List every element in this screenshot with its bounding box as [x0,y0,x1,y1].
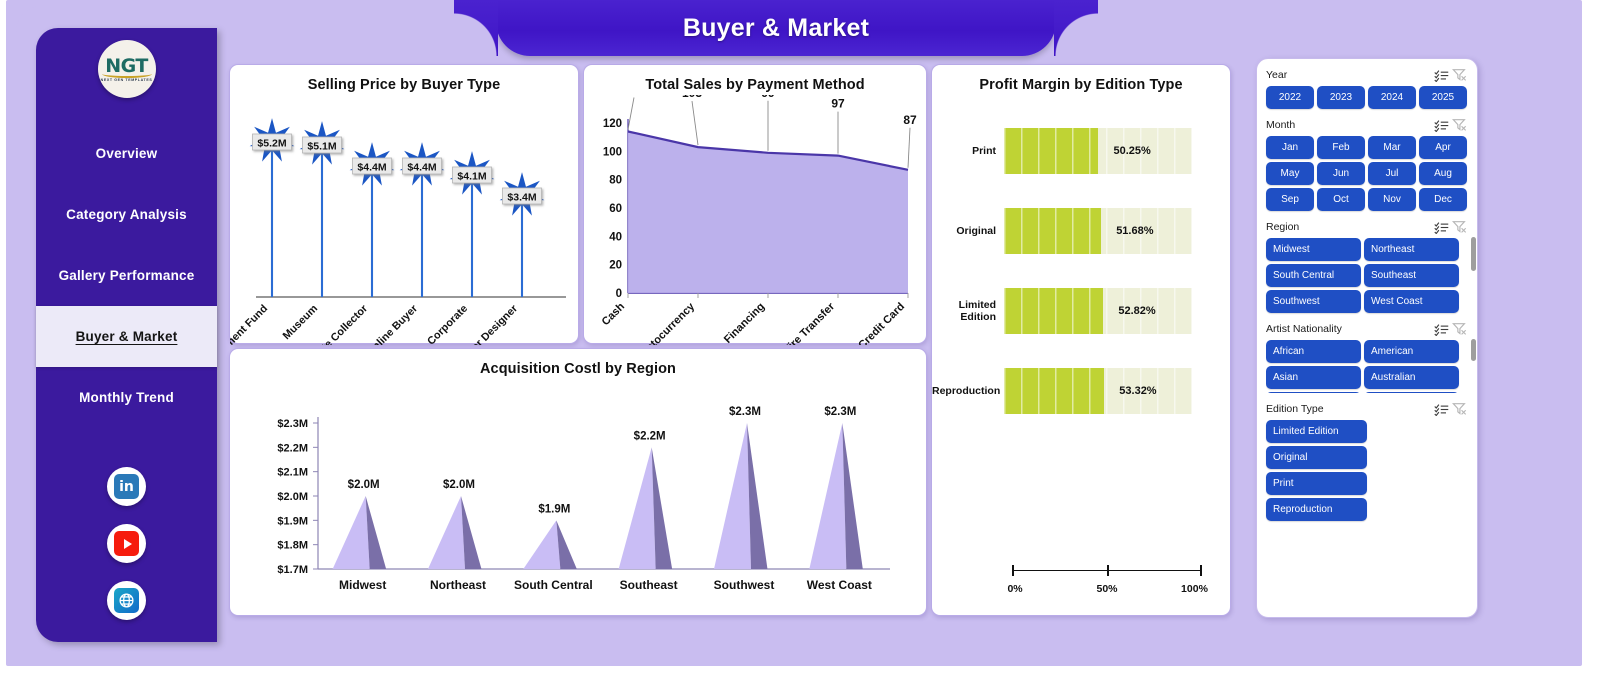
acquisition-cone-front [428,496,465,569]
filter-chip-apr[interactable]: Apr [1419,136,1467,159]
selling-price-value-label: $3.4M [507,192,536,204]
chart-title-selling-price: Selling Price by Buyer Type [230,77,578,93]
profit-margin-axis-tick-label: 50% [1096,583,1117,595]
acquisition-y-tick-label: $2.1M [277,467,308,479]
filter-chip-southwest[interactable]: Southwest [1266,290,1361,313]
acquisition-cone-front [523,520,560,569]
acquisition-y-tick-label: $2.2M [277,442,308,454]
profit-margin-value-label: 52.82% [1118,305,1155,317]
filter-group-label: Artist Nationality [1266,323,1432,335]
header-band: Buyer & Market [16,6,1592,58]
filter-chip-list: 2022202320242025 [1266,86,1468,109]
profit-margin-category-label: Original [932,225,1004,237]
filter-group-month: Month JanFebMarAprMayJunJulAugSepOctNovD… [1257,109,1477,211]
profit-margin-category-label: Print [932,145,1004,157]
profit-margin-bar-stripes [1004,368,1192,414]
payment-value-label: 97 [831,97,845,111]
clear-filter-icon[interactable] [1450,321,1468,337]
chart-acquisition-cost-plot: $1.7M$1.8M$1.9M$2.0M$2.1M$2.2M$2.3M $2.0… [230,385,926,617]
acquisition-x-tick-label: Northeast [430,578,486,592]
payment-y-tick-label: 80 [609,175,622,187]
payment-y-tick-label: 100 [603,146,622,158]
sidebar-item-buyer-market[interactable]: Buyer & Market [36,306,217,367]
filter-scrollbar-thumb[interactable] [1471,237,1476,271]
acquisition-cone-front [714,423,751,569]
selling-price-x-tick-label: Online Buyer [364,302,421,345]
acquisition-x-tick-label: Southeast [620,578,678,592]
clear-filter-icon[interactable] [1450,117,1468,133]
profit-margin-value-label: 51.68% [1116,225,1153,237]
payment-label-leader [692,101,698,145]
filter-group-edition-type: Edition Type Limited EditionOriginalPrin… [1257,393,1477,521]
sidebar-nav: Overview Category Analysis Gallery Perfo… [36,123,217,428]
profit-margin-bar-track: 51.68% [1004,208,1192,254]
filter-chip-australian[interactable]: Australian [1364,366,1459,389]
linkedin-button[interactable]: in [107,467,146,506]
header-wing-right [1054,0,1098,56]
profit-margin-axis-tick [1012,565,1014,576]
filter-chip-african[interactable]: African [1266,340,1361,363]
youtube-button[interactable] [107,524,146,563]
clear-filter-icon[interactable] [1450,219,1468,235]
multi-select-icon[interactable] [1432,401,1450,417]
filter-chip-list: AfricanAmericanAsianAustralianBritishCan… [1266,340,1468,393]
profit-margin-category-label: LimitedEdition [932,299,1004,323]
profit-margin-bar-stripes [1004,208,1192,254]
globe-icon [114,588,139,613]
acquisition-cone-front [333,496,370,569]
payment-y-tick-label: 0 [616,288,622,300]
profit-margin-axis-tick-label: 0% [1007,583,1022,595]
multi-select-icon[interactable] [1432,117,1450,133]
dashboard-root: Buyer & Market NGT NEXT GEN TEMPLATES Ov… [0,0,1600,686]
profit-margin-value-label: 50.25% [1114,145,1151,157]
selling-price-x-tick-label: Museum [281,303,320,342]
chart-title-acquisition-cost: Acquisition Costl by Region [230,361,926,377]
filter-chip-american[interactable]: American [1364,340,1459,363]
profit-margin-axis-tick [1200,565,1202,576]
filter-chip-northeast[interactable]: Northeast [1364,238,1459,261]
payment-value-label: 103 [682,95,702,100]
filter-chip-west-coast[interactable]: West Coast [1364,290,1459,313]
page-canvas-inner: Buyer & Market NGT NEXT GEN TEMPLATES Ov… [16,6,1572,658]
filter-chip-2024[interactable]: 2024 [1368,86,1416,109]
payment-method-svg: 020406080100120 114103999787 CashCryptoc… [584,95,928,345]
sidebar-item-gallery-performance[interactable]: Gallery Performance [36,245,217,306]
filter-group-label: Region [1266,221,1432,233]
acquisition-cone-front [619,447,656,569]
filter-chip-jun[interactable]: Jun [1317,162,1365,185]
acquisition-cone-front [809,423,846,569]
payment-y-tick-label: 20 [609,260,622,272]
acquisition-value-label: $2.0M [443,479,475,491]
acquisition-value-label: $2.0M [348,479,380,491]
logo-subtext: NEXT GEN TEMPLATES [101,78,153,82]
selling-price-x-tick-label: Investment Fund [230,303,270,345]
acquisition-y-tick-label: $1.8M [277,540,308,552]
filter-group-header: Region [1266,216,1468,238]
chart-card-payment-method: Total Sales by Payment Method 0204060801… [583,64,927,344]
filter-chip-feb[interactable]: Feb [1317,136,1365,159]
payment-x-tick-label: Cash [600,300,628,328]
payment-y-tick-label: 120 [603,118,622,130]
payment-value-label: 99 [761,95,775,100]
selling-price-value-label: $4.4M [357,162,386,174]
sidebar: NGT NEXT GEN TEMPLATES Overview Category… [36,28,217,642]
clear-filter-icon[interactable] [1450,67,1468,83]
filter-chip-southeast[interactable]: Southeast [1364,264,1459,287]
filter-group-label: Year [1266,69,1432,81]
header-title-pill: Buyer & Market [496,0,1056,56]
profit-margin-row: Original51.68% [932,191,1230,271]
filter-chip-dec[interactable]: Dec [1419,188,1467,211]
filter-chip-jul[interactable]: Jul [1368,162,1416,185]
filter-chip-2022[interactable]: 2022 [1266,86,1314,109]
acquisition-y-tick-label: $1.9M [277,515,308,527]
profit-margin-row: Print50.25% [932,111,1230,191]
filter-chip-jan[interactable]: Jan [1266,136,1314,159]
selling-price-value-label: $4.4M [407,162,436,174]
profit-margin-bar-track: 50.25% [1004,128,1192,174]
payment-label-leader [908,128,910,168]
acquisition-x-tick-label: Midwest [339,578,386,592]
chart-card-acquisition-cost: Acquisition Costl by Region $1.7M$1.8M$1… [229,348,927,616]
acquisition-y-tick-label: $2.3M [277,418,308,430]
selling-price-value-label: $4.1M [457,171,486,183]
profit-margin-axis-tick-label: 100% [1181,583,1208,595]
filter-group-region: Region MidwestNortheastSouth CentralSout… [1257,211,1477,313]
filter-chip-aug[interactable]: Aug [1419,162,1467,185]
filter-chip-list: Limited EditionOriginalPrintReproduction [1266,420,1468,521]
filter-group-header: Edition Type [1266,398,1468,420]
filter-chip-oct[interactable]: Oct [1317,188,1365,211]
filter-chip-south-central[interactable]: South Central [1266,264,1361,287]
chart-title-payment-method: Total Sales by Payment Method [584,77,926,93]
filter-chip-list: MidwestNortheastSouth CentralSoutheastSo… [1266,238,1468,313]
logo: NGT NEXT GEN TEMPLATES [98,40,156,98]
profit-margin-bar-stripes [1004,128,1192,174]
payment-value-label: 87 [903,113,917,127]
payment-label-leader [628,98,634,130]
sidebar-socials: in [36,467,217,620]
filter-group-year: Year 2022202320242025 [1257,59,1477,109]
page-canvas: Buyer & Market NGT NEXT GEN TEMPLATES Ov… [6,0,1582,666]
filter-chip-sep[interactable]: Sep [1266,188,1314,211]
sidebar-item-monthly-trend[interactable]: Monthly Trend [36,367,217,428]
filter-group-artist-nationality: Artist Nationality AfricanAmericanAsianA… [1257,313,1477,393]
acquisition-value-label: $2.3M [824,406,856,418]
selling-price-value-label: $5.1M [307,141,336,153]
chart-payment-method-plot: 020406080100120 114103999787 CashCryptoc… [584,95,926,345]
filter-group-header: Year [1266,64,1468,86]
filter-scrollbar-thumb[interactable] [1471,339,1476,361]
acquisition-x-tick-label: South Central [514,578,593,592]
acquisition-x-tick-label: West Coast [807,578,872,592]
payment-y-tick-label: 60 [609,203,622,215]
acquisition-x-tick-label: Southwest [714,578,775,592]
multi-select-icon[interactable] [1432,219,1450,235]
filter-chip-asian[interactable]: Asian [1266,366,1361,389]
filter-chip-2025[interactable]: 2025 [1419,86,1467,109]
acquisition-y-tick-label: $1.7M [277,564,308,576]
filter-chip-list: JanFebMarAprMayJunJulAugSepOctNovDec [1266,136,1468,211]
filter-chip-midwest[interactable]: Midwest [1266,238,1361,261]
filter-group-header: Artist Nationality [1266,318,1468,340]
multi-select-icon[interactable] [1432,67,1450,83]
profit-margin-bar-track: 53.32% [1004,368,1192,414]
profit-margin-bar-stripes [1004,288,1192,334]
acquisition-value-label: $2.2M [634,430,666,442]
payment-value-label: 114 [624,95,644,97]
filter-group-header: Month [1266,114,1468,136]
chart-card-selling-price: Selling Price by Buyer Type $5.2M$5.1M$4… [229,64,579,344]
payment-x-tick-label: Credit Card [856,301,907,345]
profit-margin-category-label: Reproduction [932,385,1004,397]
payment-x-tick-label: Financing [722,301,767,345]
profit-margin-axis-labels: 0%50%100% [1012,583,1202,597]
profit-margin-value-label: 53.32% [1119,385,1156,397]
profit-margin-rows: Print50.25%Original51.68%LimitedEdition5… [932,111,1230,431]
selling-price-value-label: $5.2M [257,138,286,150]
payment-x-tick-label: Cryptocurrency [631,300,698,345]
filter-group-label: Month [1266,119,1432,131]
sidebar-item-overview[interactable]: Overview [36,123,217,184]
chart-card-profit-margin: Profit Margin by Edition Type Print50.25… [931,64,1231,616]
logo-swoosh-icon [102,70,152,78]
filter-chip-original[interactable]: Original [1266,446,1367,469]
multi-select-icon[interactable] [1432,321,1450,337]
website-button[interactable] [107,581,146,620]
filter-chip-reproduction[interactable]: Reproduction [1266,498,1367,521]
sidebar-item-category-analysis[interactable]: Category Analysis [36,184,217,245]
youtube-icon [114,531,139,556]
profit-margin-row: LimitedEdition52.82% [932,271,1230,351]
acquisition-value-label: $2.3M [729,406,761,418]
linkedin-icon: in [114,474,139,499]
profit-margin-axis: 0%50%100% [1012,564,1202,597]
filter-chip-may[interactable]: May [1266,162,1314,185]
acquisition-y-tick-label: $2.0M [277,491,308,503]
filter-panel: Year 2022202320242025Month JanFebMarAprM… [1256,58,1478,618]
profit-margin-axis-tick [1107,565,1109,576]
acquisition-value-label: $1.9M [538,503,570,515]
profit-margin-axis-line [1012,570,1202,580]
page-title: Buyer & Market [683,14,869,43]
filter-chip-2023[interactable]: 2023 [1317,86,1365,109]
chart-title-profit-margin: Profit Margin by Edition Type [932,77,1230,93]
clear-filter-icon[interactable] [1450,401,1468,417]
acquisition-cost-svg: $1.7M$1.8M$1.9M$2.0M$2.1M$2.2M$2.3M $2.0… [230,385,928,617]
payment-area-fill [628,132,908,294]
header-wing-left [454,0,498,56]
filter-chip-nov[interactable]: Nov [1368,188,1416,211]
filter-chip-limited-edition[interactable]: Limited Edition [1266,420,1367,443]
profit-margin-row: Reproduction53.32% [932,351,1230,431]
selling-price-x-tick-label: Corporate [425,303,470,345]
filter-chip-print[interactable]: Print [1266,472,1367,495]
payment-y-tick-label: 40 [609,231,622,243]
profit-margin-bar-track: 52.82% [1004,288,1192,334]
filter-group-label: Edition Type [1266,403,1432,415]
filter-chip-mar[interactable]: Mar [1368,136,1416,159]
payment-x-tick-label: Wire Transfer [779,300,838,345]
selling-price-svg: $5.2M$5.1M$4.4M$4.4M$4.1M$3.4M Investmen… [230,99,580,345]
chart-selling-price-plot: $5.2M$5.1M$4.4M$4.4M$4.1M$3.4M Investmen… [230,99,578,345]
